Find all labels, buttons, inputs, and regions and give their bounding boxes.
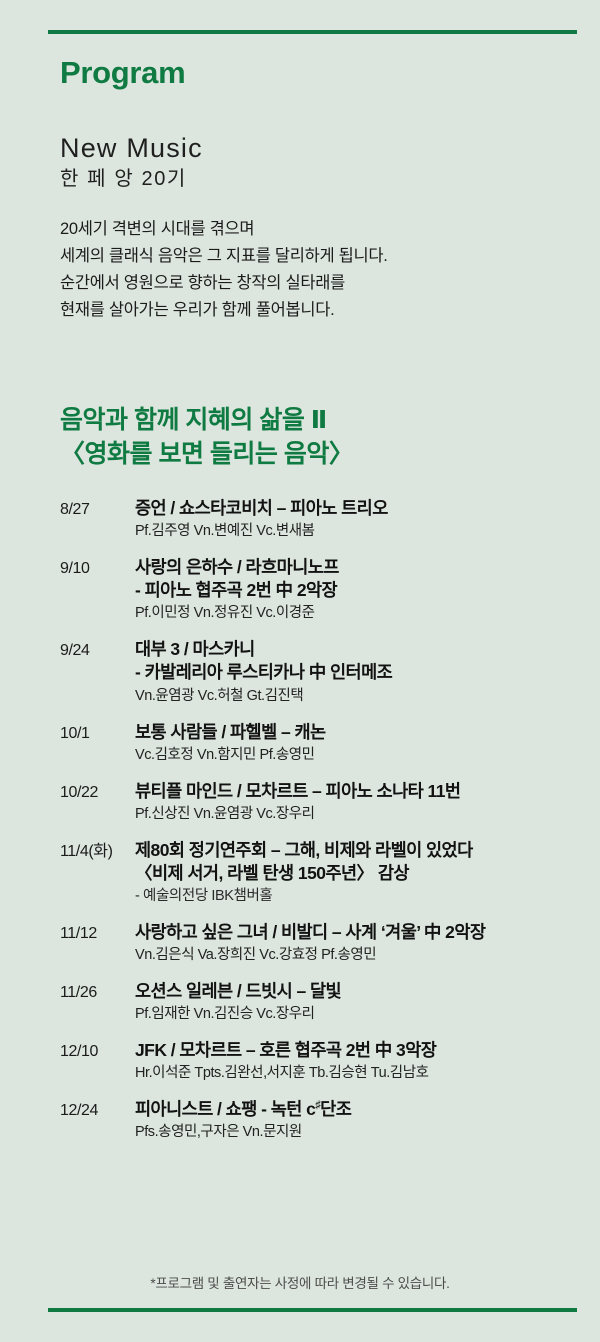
- entry-body: 뷰티플 마인드 / 모차르트 – 피아노 소나타 11번Pf.신상진 Vn.윤염…: [135, 780, 580, 825]
- program-entry: 9/10사랑의 은하수 / 라흐마니노프- 피아노 협주곡 2번 中 2악장Pf…: [60, 556, 580, 624]
- series-title-en: New Music: [60, 134, 570, 162]
- entry-title-line: 사랑하고 싶은 그녀 / 비발디 – 사계 ‘겨울’ 中 2악장: [135, 921, 580, 944]
- intro-paragraph: 20세기 격변의 시대를 겪으며세계의 클래식 음악은 그 지표를 달리하게 됩…: [60, 216, 570, 323]
- entry-body: 보통 사람들 / 파헬벨 – 캐논Vc.김호정 Vn.함지민 Pf.송영민: [135, 721, 580, 766]
- entry-title-line: - 피아노 협주곡 2번 中 2악장: [135, 579, 580, 602]
- section-heading-line-2: 〈영화를 보면 들리는 음악〉: [60, 438, 580, 472]
- entry-date: 9/10: [60, 556, 135, 581]
- entry-body: 오션스 일레븐 / 드빗시 – 달빛Pf.임재한 Vn.김진승 Vc.장우리: [135, 980, 580, 1025]
- entry-title-line: 〈비제 서거, 라벨 탄생 150주년〉 감상: [135, 862, 580, 885]
- entry-performers: Pf.김주영 Vn.변예진 Vc.변새봄: [135, 521, 580, 542]
- intro-line: 순간에서 영원으로 향하는 창작의 실타래를: [60, 270, 570, 297]
- entry-title-line: 사랑의 은하수 / 라흐마니노프: [135, 556, 580, 579]
- program-entry: 12/24피아니스트 / 쇼팽 - 녹턴 c♯단조Pfs.송영민,구자은 Vn.…: [60, 1098, 580, 1143]
- entry-performers: Hr.이석준 Tpts.김완선,서지훈 Tb.김승현 Tu.김남호: [135, 1063, 580, 1084]
- entry-title-line: 보통 사람들 / 파헬벨 – 캐논: [135, 721, 580, 744]
- top-divider-rule: [48, 30, 577, 34]
- intro-line: 20세기 격변의 시대를 겪으며: [60, 216, 570, 243]
- entry-body: 피아니스트 / 쇼팽 - 녹턴 c♯단조Pfs.송영민,구자은 Vn.문지원: [135, 1098, 580, 1143]
- program-entry: 11/26오션스 일레븐 / 드빗시 – 달빛Pf.임재한 Vn.김진승 Vc.…: [60, 980, 580, 1025]
- program-poster: Program New Music 한 페 앙 20기 20세기 격변의 시대를…: [0, 0, 600, 1342]
- entry-body: 사랑의 은하수 / 라흐마니노프- 피아노 협주곡 2번 中 2악장Pf.이민정…: [135, 556, 580, 624]
- entry-body: JFK / 모차르트 – 호른 협주곡 2번 中 3악장Hr.이석준 Tpts.…: [135, 1039, 580, 1084]
- entry-title-line: 뷰티플 마인드 / 모차르트 – 피아노 소나타 11번: [135, 780, 580, 803]
- series-title-ko: 한 페 앙 20기: [60, 168, 570, 190]
- entry-performers: Pf.임재한 Vn.김진승 Vc.장우리: [135, 1004, 580, 1025]
- entry-performers: Pf.신상진 Vn.윤염광 Vc.장우리: [135, 804, 580, 825]
- entry-title-line: JFK / 모차르트 – 호른 협주곡 2번 中 3악장: [135, 1039, 580, 1062]
- intro-line: 세계의 클래식 음악은 그 지표를 달리하게 됩니다.: [60, 243, 570, 270]
- entry-body: 사랑하고 싶은 그녀 / 비발디 – 사계 ‘겨울’ 中 2악장Vn.김은식 V…: [135, 921, 580, 966]
- entry-date: 10/1: [60, 721, 135, 746]
- entry-performers: Pf.이민정 Vn.정유진 Vc.이경준: [135, 603, 580, 624]
- section-heading: 음악과 함께 지혜의 삶을 Ⅱ 〈영화를 보면 들리는 음악〉: [60, 404, 580, 471]
- section-heading-line-1: 음악과 함께 지혜의 삶을 Ⅱ: [60, 404, 580, 438]
- entry-performers: Vc.김호정 Vn.함지민 Pf.송영민: [135, 745, 580, 766]
- entry-title-line: 증언 / 쇼스타코비치 – 피아노 트리오: [135, 497, 580, 520]
- program-list: 8/27증언 / 쇼스타코비치 – 피아노 트리오Pf.김주영 Vn.변예진 V…: [60, 497, 580, 1157]
- program-entry: 8/27증언 / 쇼스타코비치 – 피아노 트리오Pf.김주영 Vn.변예진 V…: [60, 497, 580, 542]
- entry-venue: - 예술의전당 IBK챔버홀: [135, 886, 580, 907]
- entry-body: 증언 / 쇼스타코비치 – 피아노 트리오Pf.김주영 Vn.변예진 Vc.변새…: [135, 497, 580, 542]
- entry-performers: Vn.윤염광 Vc.허철 Gt.김진택: [135, 686, 580, 707]
- intro-line: 현재를 살아가는 우리가 함께 풀어봅니다.: [60, 297, 570, 324]
- entry-date: 11/4(화): [60, 839, 135, 864]
- program-entry: 10/22뷰티플 마인드 / 모차르트 – 피아노 소나타 11번Pf.신상진 …: [60, 780, 580, 825]
- entry-performers: Vn.김은식 Va.장희진 Vc.강효정 Pf.송영민: [135, 945, 580, 966]
- entry-date: 9/24: [60, 638, 135, 663]
- entry-date: 12/10: [60, 1039, 135, 1064]
- entry-title-line: 피아니스트 / 쇼팽 - 녹턴 c♯단조: [135, 1098, 580, 1121]
- program-entry: 11/12사랑하고 싶은 그녀 / 비발디 – 사계 ‘겨울’ 中 2악장Vn.…: [60, 921, 580, 966]
- page-title: Program: [60, 56, 570, 90]
- program-entry: 10/1보통 사람들 / 파헬벨 – 캐논Vc.김호정 Vn.함지민 Pf.송영…: [60, 721, 580, 766]
- entry-date: 11/26: [60, 980, 135, 1005]
- footnote: *프로그램 및 출연자는 사정에 따라 변경될 수 있습니다.: [0, 1272, 600, 1292]
- program-entry: 12/10JFK / 모차르트 – 호른 협주곡 2번 中 3악장Hr.이석준 …: [60, 1039, 580, 1084]
- entry-title-line: 오션스 일레븐 / 드빗시 – 달빛: [135, 980, 580, 1003]
- entry-title-line: 대부 3 / 마스카니: [135, 638, 580, 661]
- entry-date: 8/27: [60, 497, 135, 522]
- entry-body: 제80회 정기연주회 – 그해, 비제와 라벨이 있었다〈비제 서거, 라벨 탄…: [135, 839, 580, 907]
- entry-title-line: 제80회 정기연주회 – 그해, 비제와 라벨이 있었다: [135, 839, 580, 862]
- entry-date: 10/22: [60, 780, 135, 805]
- program-entry: 11/4(화)제80회 정기연주회 – 그해, 비제와 라벨이 있었다〈비제 서…: [60, 839, 580, 907]
- poster-header: Program New Music 한 페 앙 20기 20세기 격변의 시대를…: [60, 56, 570, 323]
- entry-performers: Pfs.송영민,구자은 Vn.문지원: [135, 1122, 580, 1143]
- bottom-divider-rule: [48, 1308, 577, 1312]
- entry-date: 12/24: [60, 1098, 135, 1123]
- entry-date: 11/12: [60, 921, 135, 946]
- entry-title-line: - 카발레리아 루스티카나 中 인터메조: [135, 661, 580, 684]
- entry-body: 대부 3 / 마스카니- 카발레리아 루스티카나 中 인터메조Vn.윤염광 Vc…: [135, 638, 580, 706]
- program-entry: 9/24대부 3 / 마스카니- 카발레리아 루스티카나 中 인터메조Vn.윤염…: [60, 638, 580, 706]
